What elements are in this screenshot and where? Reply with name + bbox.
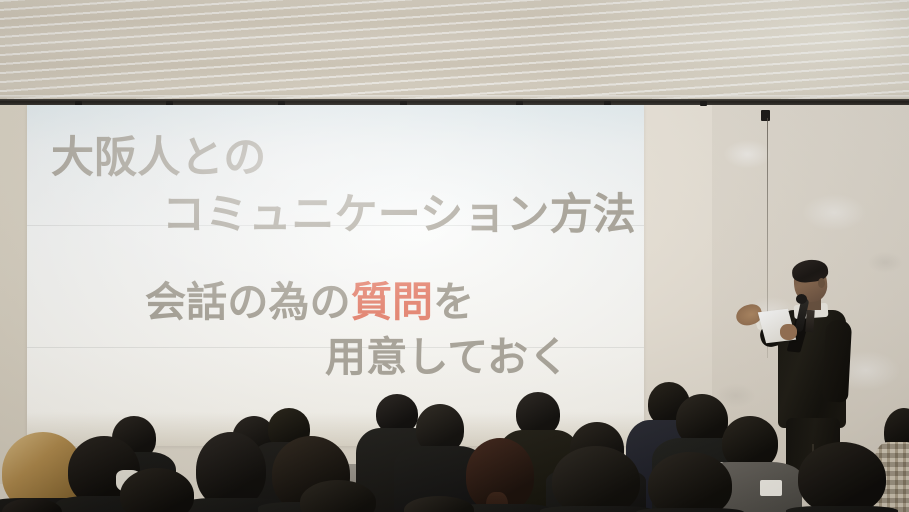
presenter-mic-hand (780, 324, 797, 340)
microphone-head (796, 294, 807, 304)
presenter-necktie (805, 310, 815, 333)
audience-body (786, 506, 898, 512)
presenter-ear (818, 278, 825, 288)
audience-head (196, 432, 266, 508)
seminar-room-photo: 大阪人との コミュニケーション方法 会話の為の質問を 用意しておく (0, 0, 909, 512)
audience-head (120, 468, 194, 512)
audience-head (552, 446, 640, 512)
ceiling (0, 0, 909, 104)
slide-highlight-word: 質問 (351, 278, 433, 326)
audience-body (636, 508, 744, 512)
audience-shirt-collar (760, 480, 782, 496)
slide-line-3-prefix: 会話の為の (145, 278, 351, 326)
slide-line-2: コミュニケーション方法 (162, 180, 636, 242)
audience-head (798, 442, 886, 512)
audience-head (648, 452, 732, 512)
rail-clip (700, 101, 707, 106)
slide-line-3-suffix: を (433, 278, 474, 326)
slide-line-4: 用意しておく (325, 323, 570, 383)
rail-bracket (761, 110, 770, 121)
audience (0, 380, 909, 512)
ceiling-light-glow (549, 0, 909, 104)
slide-line-3: 会話の為の質問を (145, 268, 474, 328)
slide-line-1: 大阪人との (51, 123, 266, 185)
